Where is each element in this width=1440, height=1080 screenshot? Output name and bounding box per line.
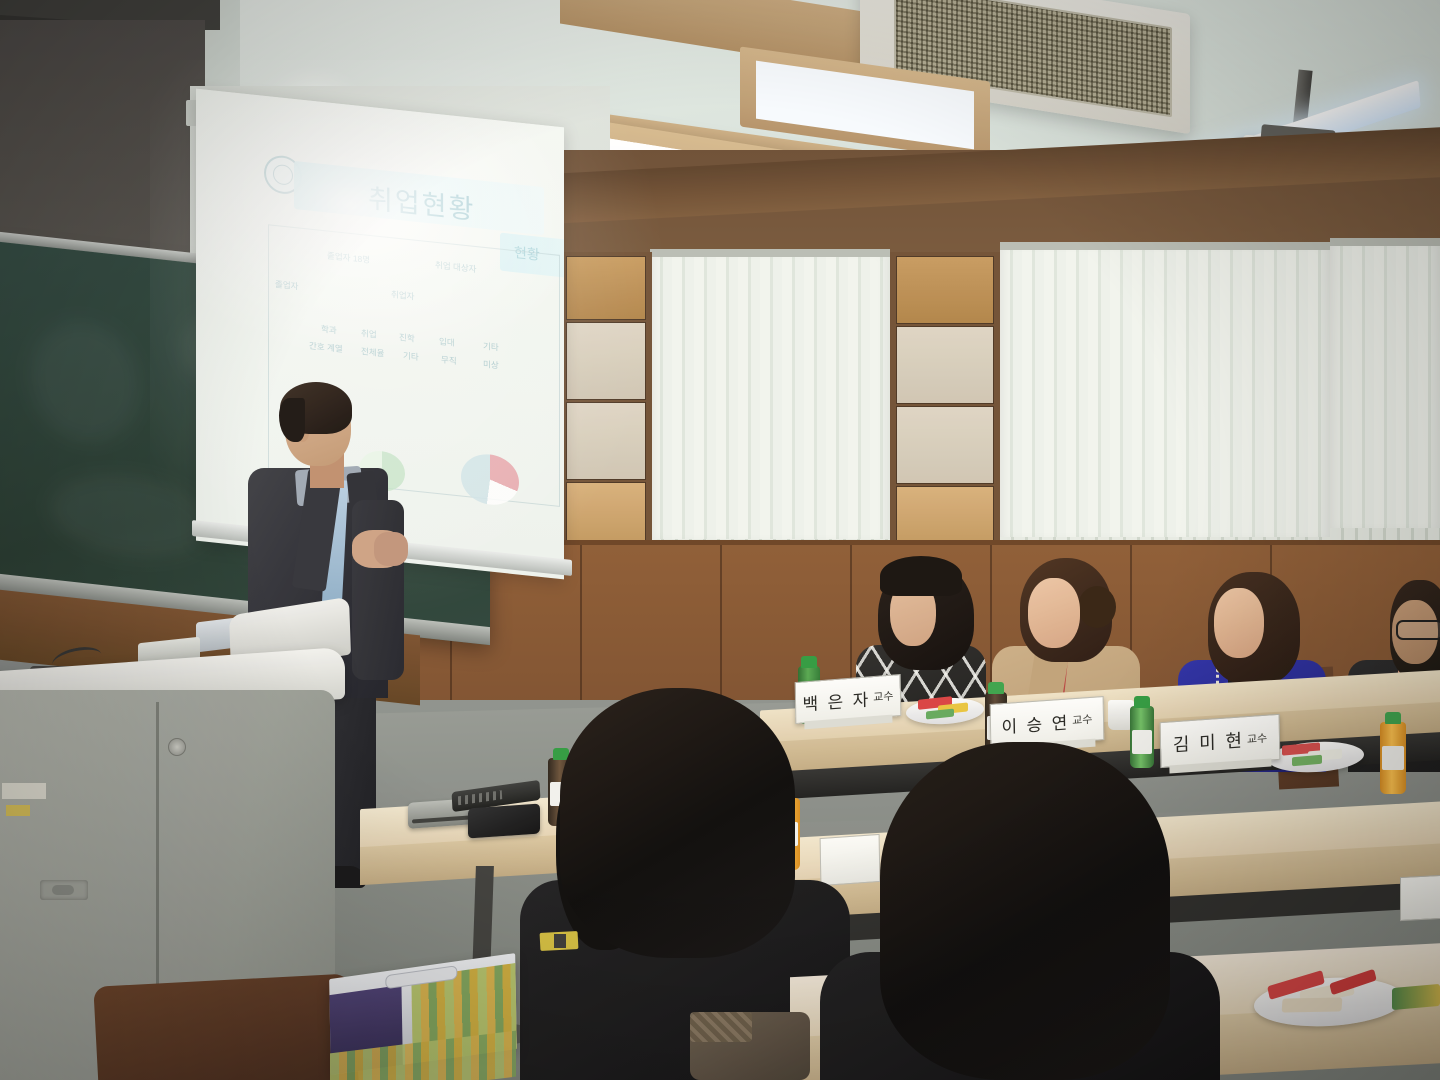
handbag-pattern [690,1012,752,1042]
wall-panel-column-right [890,252,1000,552]
slide-cell: 취업자 [391,288,414,302]
podium-warning-sticker [6,805,30,816]
blank-name-card-2 [820,834,881,886]
slide-cell: 졸업자 [275,278,298,292]
slide-cell: 졸업자 18명 [327,249,370,266]
attendee-4-glasses-icon [1396,620,1440,640]
slide-cell: 전체율 [361,345,384,359]
name-plate-1-name: 백 은 자 [802,685,870,715]
lecture-room-photo: 취업현황 현황 졸업자 18명 취업 대상자 졸업자 취업자 학과 취업 진학 … [0,0,1440,1080]
name-plate-2-name: 이 승 연 [1001,708,1069,738]
name-plate-1: 백 은 자 교수 [795,674,902,724]
slide-cell: 진학 [399,331,415,345]
professor-3-face [1214,588,1264,658]
pie-chart-red [461,452,519,508]
professor-1-bangs [880,556,962,596]
name-plate-1-title: 교수 [873,688,894,706]
student-2-hair [880,742,1170,1080]
presenter-hand-2 [374,532,408,566]
name-plate-2: 이 승 연 교수 [990,696,1105,748]
smartphone[interactable] [468,803,540,838]
slide-cell: 입대 [439,335,455,349]
professor-2-face [1028,578,1080,648]
blank-name-card-3 [1400,875,1440,921]
presenter-arm [352,500,404,680]
slide-cell: 기타 [403,349,419,363]
professor-2-hair-bun [1078,586,1116,628]
blind-rail [1000,242,1330,250]
slide-cell: 취업 대상자 [435,259,476,275]
slide-cell: 미상 [483,358,499,372]
chair-sticker-detail [554,934,566,948]
slide-cell: 기타 [483,340,499,354]
wooden-chair-foreground[interactable] [93,973,358,1080]
vertical-blinds-1[interactable] [650,255,890,555]
blind-rail [1330,238,1440,246]
podium-lock-icon[interactable] [168,738,186,756]
slide-cell: 무직 [441,353,457,367]
podium-handle[interactable] [40,880,88,900]
slide-cell: 취업 [361,327,377,341]
name-plate-3: 김 미 현 교수 [1160,714,1281,768]
wall-panel-column-left [560,252,652,552]
podium-spec-sticker [2,783,46,799]
slide-cell: 간호 계열 [309,340,343,356]
drink-bottle-green-2[interactable] [1130,706,1154,768]
name-plate-3-title: 교수 [1247,730,1268,747]
vertical-blinds-3[interactable] [1330,244,1440,544]
vertical-blinds-2[interactable] [1000,248,1330,553]
blind-rail [650,249,890,257]
slide-cell: 학과 [321,323,337,337]
name-plate-3-name: 김 미 현 [1173,726,1245,757]
name-plate-2-title: 교수 [1072,711,1093,728]
handbag[interactable] [690,1012,810,1080]
drink-bottle-orange-1[interactable] [1380,722,1406,794]
